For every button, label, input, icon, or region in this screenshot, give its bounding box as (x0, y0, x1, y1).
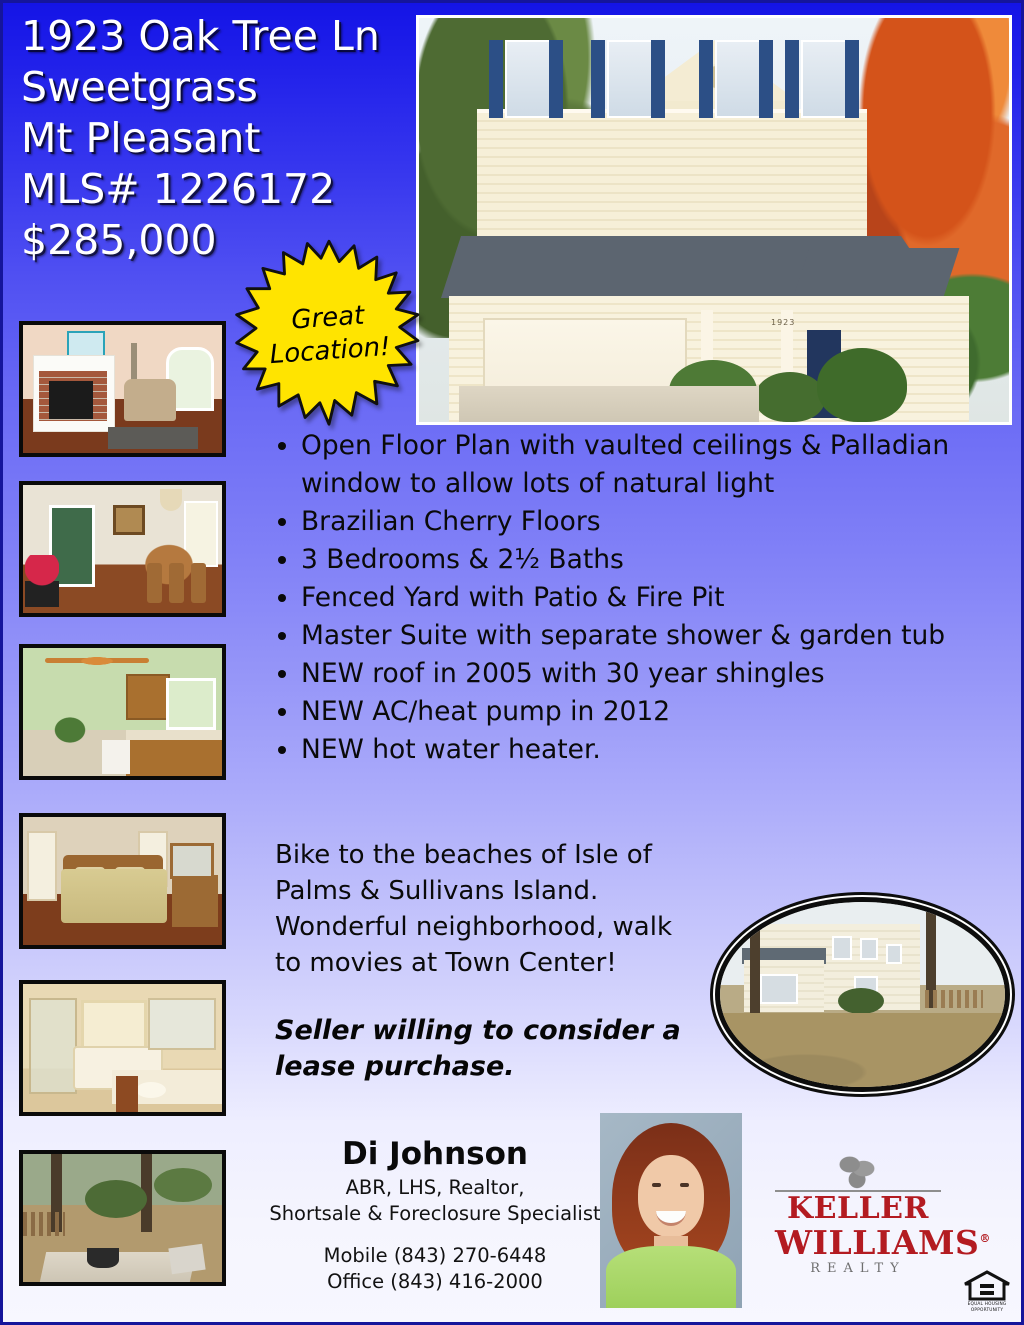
mirror (170, 843, 214, 879)
rear-exterior-oval-photo (715, 897, 1010, 1092)
green-blouse (606, 1246, 736, 1308)
bush (154, 1168, 212, 1202)
thumbnail-living-room (19, 321, 226, 457)
shutter (785, 40, 799, 118)
wall-art (113, 505, 145, 535)
seller-terms-tagline: Seller willing to consider a lease purch… (275, 1013, 705, 1085)
shrub (817, 348, 907, 422)
kitchen-window (166, 678, 216, 730)
list-item: Open Floor Plan with vaulted ceilings & … (301, 427, 999, 503)
fence (23, 1212, 65, 1236)
thumbnail-backyard-patio (19, 1150, 226, 1286)
pendant-light (160, 489, 182, 511)
driveway (459, 386, 759, 422)
list-item: Brazilian Cherry Floors (301, 503, 999, 541)
upper-window (715, 40, 761, 118)
property-subdivision: Sweetgrass (21, 62, 421, 113)
dining-chair (147, 563, 162, 603)
badge-line-2: Location! (269, 331, 392, 372)
eho-line-1: EQUAL HOUSING (963, 1302, 1011, 1307)
base-cabinets (126, 740, 222, 776)
vanity-mirror (148, 998, 216, 1050)
leaf-covered-lawn (720, 1013, 1005, 1087)
shutter (845, 40, 859, 118)
keller-williams-logo: KELLER WILLIAMS® REALTY (775, 1155, 941, 1276)
deck-railing (925, 990, 983, 1008)
real-estate-flyer: 1923 Oak Tree Ln Sweetgrass Mt Pleasant … (0, 0, 1024, 1325)
upper-cabinet (126, 674, 170, 720)
list-item: NEW roof in 2005 with 30 year shingles (301, 655, 999, 693)
feature-list-items: Open Floor Plan with vaulted ceilings & … (269, 427, 999, 769)
lounge-chair (168, 1244, 205, 1274)
sink (136, 1082, 166, 1098)
dresser (172, 875, 218, 927)
thumb-image (23, 984, 222, 1112)
shutter (591, 40, 605, 118)
feature-list: Open Floor Plan with vaulted ceilings & … (269, 427, 999, 769)
thumb-image (23, 325, 222, 453)
equal-housing-opportunity-logo: EQUAL HOUSING OPPORTUNITY (963, 1269, 1011, 1313)
kw-logo-line-2: WILLIAMS® (775, 1223, 941, 1259)
agent-credentials: ABR, LHS, Realtor, Shortsale & Foreclosu… (261, 1175, 609, 1227)
location-description: Bike to the beaches of Isle of Palms & S… (275, 837, 695, 981)
thumbnail-master-bedroom (19, 813, 226, 949)
registered-mark: ® (979, 1232, 991, 1245)
bed (61, 869, 167, 923)
upper-storey-siding (477, 113, 867, 238)
upper-window (607, 40, 653, 118)
flower-vase (25, 555, 59, 607)
eye-left (652, 1183, 661, 1187)
shutter (759, 40, 773, 118)
listing-header: 1923 Oak Tree Ln Sweetgrass Mt Pleasant … (21, 11, 421, 266)
thumb-image (23, 817, 222, 945)
list-item: NEW hot water heater. (301, 731, 999, 769)
kw-logo-line-1: KELLER (775, 1195, 941, 1223)
bath-window (81, 1000, 147, 1050)
thumb-image (23, 1154, 222, 1282)
window (760, 974, 798, 1004)
kw-logo-line-3: REALTY (775, 1261, 941, 1276)
agent-credentials-line-1: ABR, LHS, Realtor, (261, 1175, 609, 1201)
eho-line-2: OPPORTUNITY (963, 1308, 1011, 1313)
agent-credentials-line-2: Shortsale & Foreclosure Specialist (261, 1201, 609, 1227)
breakfast-table (41, 714, 99, 754)
agent-office-phone[interactable]: Office (843) 416-2000 (265, 1269, 605, 1295)
eye-right (680, 1183, 689, 1187)
armchair (124, 379, 176, 421)
window (860, 938, 878, 960)
thumbnail-kitchen (19, 644, 226, 780)
window (886, 944, 902, 964)
side-roof (793, 248, 960, 300)
main-property-photo: 1923 (416, 15, 1012, 425)
shutter (549, 40, 563, 118)
list-item: NEW AC/heat pump in 2012 (301, 693, 999, 731)
kw-figure-icon (835, 1155, 881, 1189)
thumb-image (23, 648, 222, 776)
badge-text: Great Location! (209, 231, 450, 438)
mls-number: MLS# 1226172 (21, 164, 421, 215)
kw-williams-text: WILLIAMS (775, 1223, 979, 1262)
shutter (651, 40, 665, 118)
upper-window (801, 40, 847, 118)
dishwasher (102, 740, 130, 774)
upper-window (505, 40, 551, 118)
agent-phone-numbers: Mobile (843) 270-6448 Office (843) 416-2… (265, 1243, 605, 1295)
property-city: Mt Pleasant (21, 113, 421, 164)
equal-housing-icon (963, 1269, 1011, 1301)
window-left (27, 831, 57, 901)
agent-name: Di Johnson (265, 1136, 605, 1172)
agent-headshot-photo (600, 1113, 742, 1308)
thumb-image (23, 485, 222, 613)
coffee-table (108, 427, 198, 449)
bush (85, 1180, 147, 1218)
dining-chair (191, 563, 206, 603)
list-item: 3 Bedrooms & 2½ Baths (301, 541, 999, 579)
property-address: 1923 Oak Tree Ln (21, 11, 421, 62)
shutter (489, 40, 503, 118)
fireplace-insert (49, 381, 93, 419)
great-location-badge: Great Location! (215, 239, 443, 431)
house-number-text: 1923 (771, 318, 795, 327)
fire-pit (87, 1248, 119, 1268)
dining-chair (169, 563, 184, 603)
agent-mobile-phone[interactable]: Mobile (843) 270-6448 (265, 1243, 605, 1269)
thumbnail-master-bathroom (19, 980, 226, 1116)
vanity-cabinet (116, 1076, 138, 1112)
list-item: Master Suite with separate shower & gard… (301, 617, 999, 655)
shower-enclosure (29, 998, 77, 1094)
shrub (755, 372, 825, 422)
shutter (699, 40, 713, 118)
ceiling-fan (61, 652, 133, 670)
thumbnail-dining-room (19, 481, 226, 617)
badge-line-1: Great (290, 300, 365, 338)
window (832, 936, 852, 960)
bush (838, 988, 884, 1014)
list-item: Fenced Yard with Patio & Fire Pit (301, 579, 999, 617)
